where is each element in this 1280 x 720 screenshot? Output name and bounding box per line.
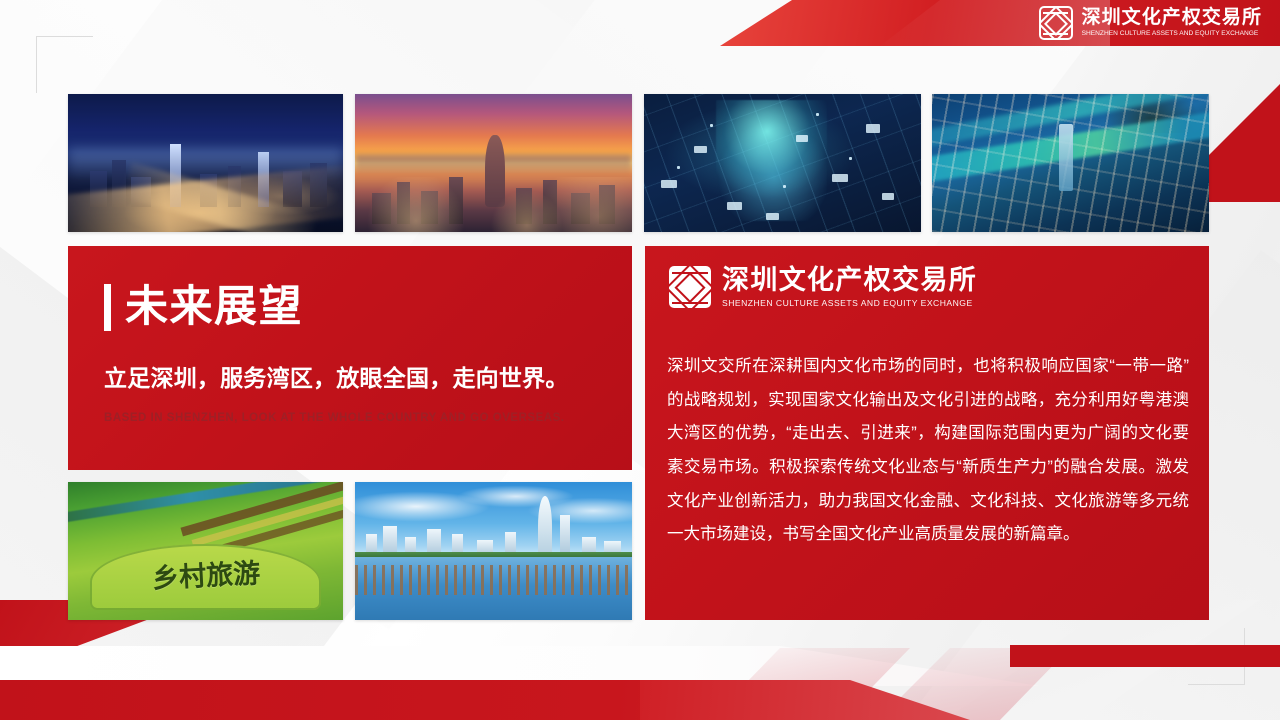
brand-name-cn: 深圳文化产权交易所 <box>722 267 977 294</box>
outlook-body-text: 深圳文交所在深耕国内文化市场的同时，也将积极响应国家“一带一路”的战略规划，实现… <box>667 350 1189 552</box>
future-outlook-panel: 未来展望 立足深圳，服务湾区，放眼全国，走向世界。 BASED IN SHENZ… <box>68 246 632 470</box>
page-title: 未来展望 <box>125 286 303 329</box>
brand-name-cn: 深圳文化产权交易所 <box>1082 8 1262 27</box>
header-brand-logo: 深圳文化产权交易所 SHENZHEN CULTURE ASSETS AND EQ… <box>1039 6 1262 40</box>
panel-brand-text: 深圳文化产权交易所 SHENZHEN CULTURE ASSETS AND EQ… <box>722 267 977 308</box>
subtitle-chinese: 立足深圳，服务湾区，放眼全国，走向世界。 <box>104 366 569 391</box>
night-cityscape-photo <box>68 94 343 232</box>
header-brand-text: 深圳文化产权交易所 SHENZHEN CULTURE ASSETS AND EQ… <box>1082 8 1262 38</box>
daytime-skyline-photo <box>355 482 632 620</box>
title-accent-bar <box>104 284 111 331</box>
brand-name-en: SHENZHEN CULTURE ASSETS AND EQUITY EXCHA… <box>1082 31 1262 38</box>
panel-brand-logo: 深圳文化产权交易所 SHENZHEN CULTURE ASSETS AND EQ… <box>669 266 977 308</box>
bottom-right-red-bar <box>1010 645 1280 667</box>
sunset-skyline-photo <box>355 94 632 232</box>
aerial-waterfront-photo <box>932 94 1209 232</box>
brand-name-en: SHENZHEN CULTURE ASSETS AND EQUITY EXCHA… <box>722 299 977 308</box>
shenzhen-cae-logo-icon <box>669 266 711 308</box>
corner-bracket-top-left <box>36 36 93 93</box>
outlook-description-panel: 深圳文化产权交易所 SHENZHEN CULTURE ASSETS AND EQ… <box>645 246 1209 620</box>
shenzhen-cae-logo-icon <box>1039 6 1073 40</box>
slide-stage: 深圳文化产权交易所 SHENZHEN CULTURE ASSETS AND EQ… <box>0 0 1280 720</box>
subtitle-english: BASED IN SHENZHEN, LOOK AT THE WHOLE COU… <box>104 413 565 425</box>
section-title-block: 未来展望 <box>104 284 303 331</box>
rural-tourism-field-photo: 乡村旅游 <box>68 482 343 620</box>
digital-network-photo <box>644 94 921 232</box>
